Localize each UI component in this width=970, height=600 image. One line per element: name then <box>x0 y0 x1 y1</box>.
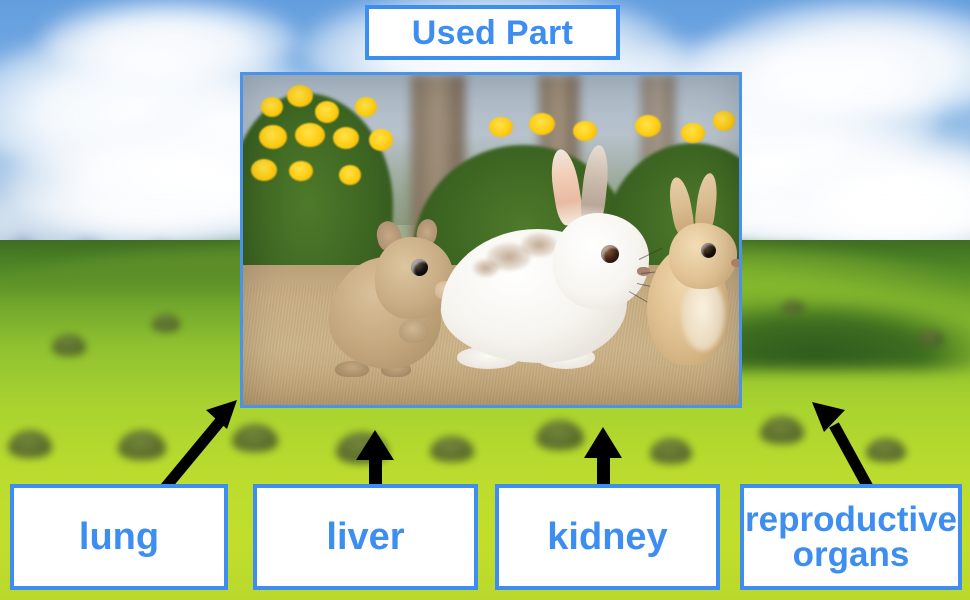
photo-flower <box>489 117 513 137</box>
photo-gerbil <box>325 223 459 373</box>
page-title: Used Part <box>412 16 573 50</box>
hay-bale <box>52 334 86 356</box>
photo-flower <box>261 97 283 117</box>
label-box-reproductive-organs[interactable]: reproductive organs <box>740 484 962 590</box>
label-text-kidney: kidney <box>547 518 667 557</box>
slide-canvas: Used Part <box>0 0 970 600</box>
label-box-kidney[interactable]: kidney <box>495 484 720 590</box>
gerbil-paw <box>399 319 429 343</box>
hay-bale <box>918 330 944 346</box>
hay-bale <box>430 436 474 462</box>
used-part-photo <box>240 72 742 408</box>
photo-flower <box>355 97 377 117</box>
photo-flower <box>289 161 313 181</box>
label-line-1: reproductive <box>745 500 957 539</box>
label-box-lung[interactable]: lung <box>10 484 228 590</box>
label-text-liver: liver <box>326 518 404 557</box>
photo-flower <box>713 111 735 131</box>
rabbit-eye <box>601 245 619 263</box>
rabbit-ear <box>547 147 585 226</box>
photo-flower <box>295 123 325 147</box>
photo-flower <box>251 159 277 181</box>
photo-flower <box>333 127 359 149</box>
photo-flower <box>315 101 339 123</box>
hay-bale <box>650 438 692 464</box>
label-text-lung: lung <box>79 518 159 557</box>
photo-flower <box>287 85 313 107</box>
rabbit-nose <box>731 259 742 267</box>
photo-flower <box>635 115 661 137</box>
rabbit-spot <box>473 259 499 277</box>
photo-flower <box>573 121 597 141</box>
label-text-reproductive-organs: reproductive organs <box>745 502 957 572</box>
photo-white-rabbit <box>441 155 655 373</box>
photo-flower <box>681 123 705 143</box>
photo-flower <box>529 113 555 135</box>
rabbit-spot <box>521 233 557 257</box>
photo-flower <box>339 165 361 185</box>
photo-tan-rabbit <box>639 185 742 365</box>
rabbit-eye <box>701 243 716 258</box>
hay-bale <box>152 314 180 332</box>
photo-flower <box>259 125 287 149</box>
label-line-2: organs <box>793 535 910 574</box>
hay-bale <box>866 438 906 462</box>
photo-flower <box>369 129 393 151</box>
hay-bale <box>782 300 804 314</box>
rabbit-chest <box>681 279 725 351</box>
gerbil-eye <box>411 259 428 276</box>
title-box: Used Part <box>365 5 620 60</box>
label-box-liver[interactable]: liver <box>253 484 478 590</box>
